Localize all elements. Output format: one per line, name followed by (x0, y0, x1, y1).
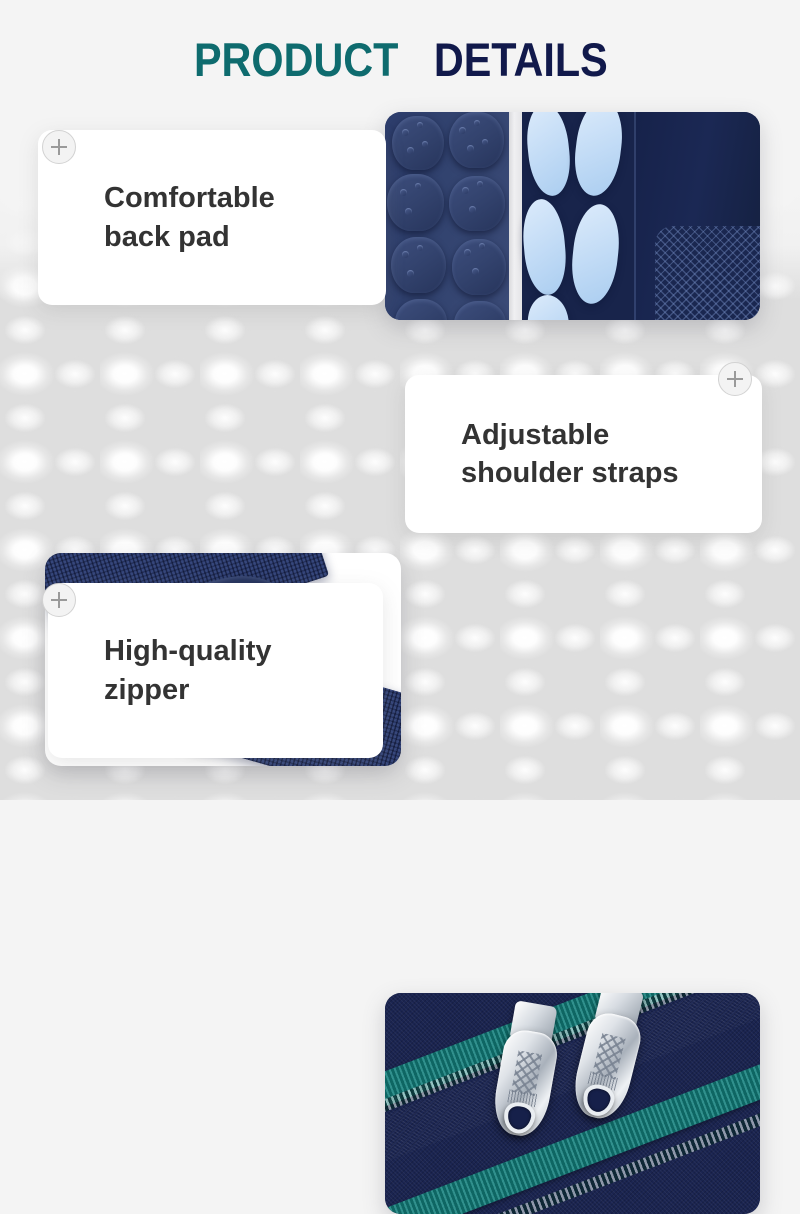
feature-label-adjustable-shoulder-straps: Adjustable shoulder straps (461, 416, 679, 493)
pad-dot (459, 127, 466, 134)
back-pad-seam (634, 112, 636, 320)
page-title-part-one: PRODUCT (194, 36, 399, 83)
pad-dot (400, 189, 407, 196)
feature-photo-zipper (385, 993, 760, 1214)
back-pad-left-panel (385, 112, 509, 320)
feature-card-high-quality-zipper[interactable]: High-quality zipper (48, 583, 383, 758)
pad-dot (405, 208, 412, 215)
pad-bump (454, 301, 506, 320)
mesh-pocket (655, 226, 760, 320)
plus-icon[interactable] (42, 130, 76, 164)
pad-dot (462, 187, 469, 194)
pad-dot (415, 183, 421, 189)
feature-photo-back-pad (385, 112, 760, 320)
feature-card-comfortable-back-pad[interactable]: Comfortable back pad (38, 130, 386, 305)
pad-dot (469, 206, 476, 213)
pad-bump (395, 299, 447, 320)
pad-dot (477, 181, 483, 187)
feature-label-high-quality-zipper: High-quality zipper (104, 632, 272, 709)
page-title-part-two: DETAILS (434, 36, 608, 83)
page-title: PRODUCTDETAILS (0, 36, 800, 83)
feature-card-adjustable-shoulder-straps[interactable]: Adjustable shoulder straps (405, 375, 762, 533)
pad-dot (472, 268, 479, 275)
zipper-pull-body (489, 1028, 560, 1140)
back-pad-channel (509, 112, 522, 320)
pad-dot (402, 129, 409, 136)
plus-icon[interactable] (42, 583, 76, 617)
plus-icon[interactable] (718, 362, 752, 396)
pad-dot (467, 145, 474, 152)
pad-dot (482, 139, 488, 145)
feature-label-comfortable-back-pad: Comfortable back pad (104, 179, 275, 256)
